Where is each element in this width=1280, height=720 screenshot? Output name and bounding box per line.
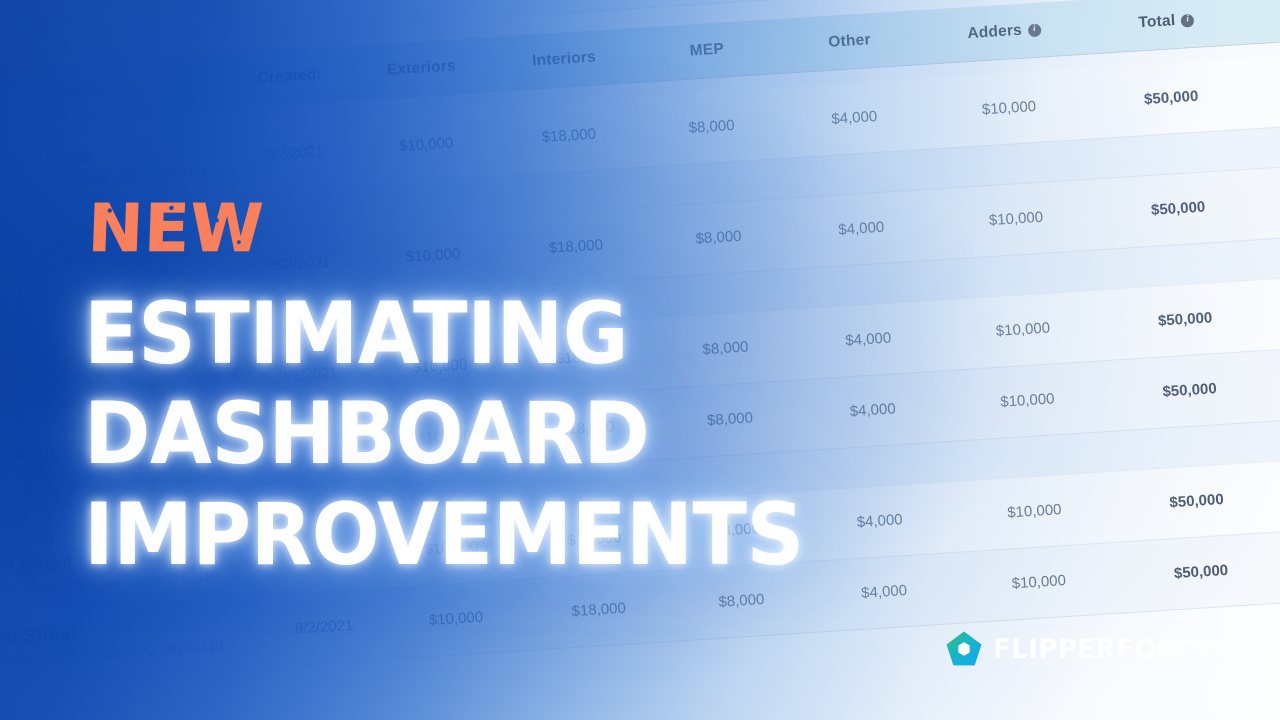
cell-mep: $8,000 [643,114,780,140]
stage-label: Contacting Seller [0,214,67,240]
column-header-other[interactable]: Other [774,28,925,55]
column-header-adders[interactable]: Adders i [924,18,1085,46]
column-header-created[interactable]: Created: [225,64,354,90]
cell-other: $4,000 [779,105,930,131]
cell-interiors: $18,000 [500,233,651,259]
info-icon[interactable]: i [1028,23,1042,37]
pentagon-logo-icon [945,630,983,668]
info-icon[interactable]: i [1181,13,1195,27]
cell-total: $50,000 [1088,84,1254,111]
promo-headline: ESTIMATING DASHBOARD IMPROVEMENTS [84,292,1134,577]
column-header-exteriors[interactable]: Exteriors [353,55,490,82]
cell-other: $4,000 [786,215,937,241]
cell-created: 9/2/2021 [230,141,359,166]
column-header-mep[interactable]: MEP [638,37,775,64]
property-cell[interactable]: E 43rd Street 1234 E 43rd Street, Kansas… [0,611,262,671]
cell-exteriors: $10,000 [365,243,502,269]
property-cell[interactable]: Normandy House 1234 Normandy Lane, Kansa… [0,137,232,197]
headline-line-3: IMPROVEMENTS [84,493,1061,577]
cell-mep: $8,000 [673,588,810,614]
cell-total: $50,000 [1095,195,1261,222]
cell-mep: $8,000 [650,225,787,251]
flipperforce-logo: FLIPPERFORCE [945,630,1224,668]
column-header-stage: Leads [0,72,226,110]
cell-exteriors: $10,000 [388,606,525,632]
promo-graphic: Name Leads Created: Exteriors Interiors … [0,0,1280,720]
column-header-total[interactable]: Total i [1084,7,1250,35]
cell-exteriors: $10,000 [358,132,495,158]
brand-name: FLIPPERFORCE [993,634,1215,665]
stage-label: Appointment Set [0,325,70,351]
headline-line-2: DASHBOARD [84,392,1061,476]
cell-adders: $10,000 [936,205,1097,232]
stage-label: Offer Made [0,510,37,533]
column-header-interiors[interactable]: Interiors [489,46,640,73]
cell-other: $4,000 [809,579,960,605]
cell-created: 9/2/2021 [260,615,389,640]
headline-line-1: ESTIMATING [84,292,1061,376]
cell-total: $50,000 [1114,487,1280,514]
cell-interiors: $18,000 [494,123,645,149]
cell-adders: $10,000 [929,95,1090,122]
new-badge: NEW [87,196,265,262]
cell-interiors: $18,000 [523,597,674,623]
cell-total: $50,000 [1118,558,1280,585]
